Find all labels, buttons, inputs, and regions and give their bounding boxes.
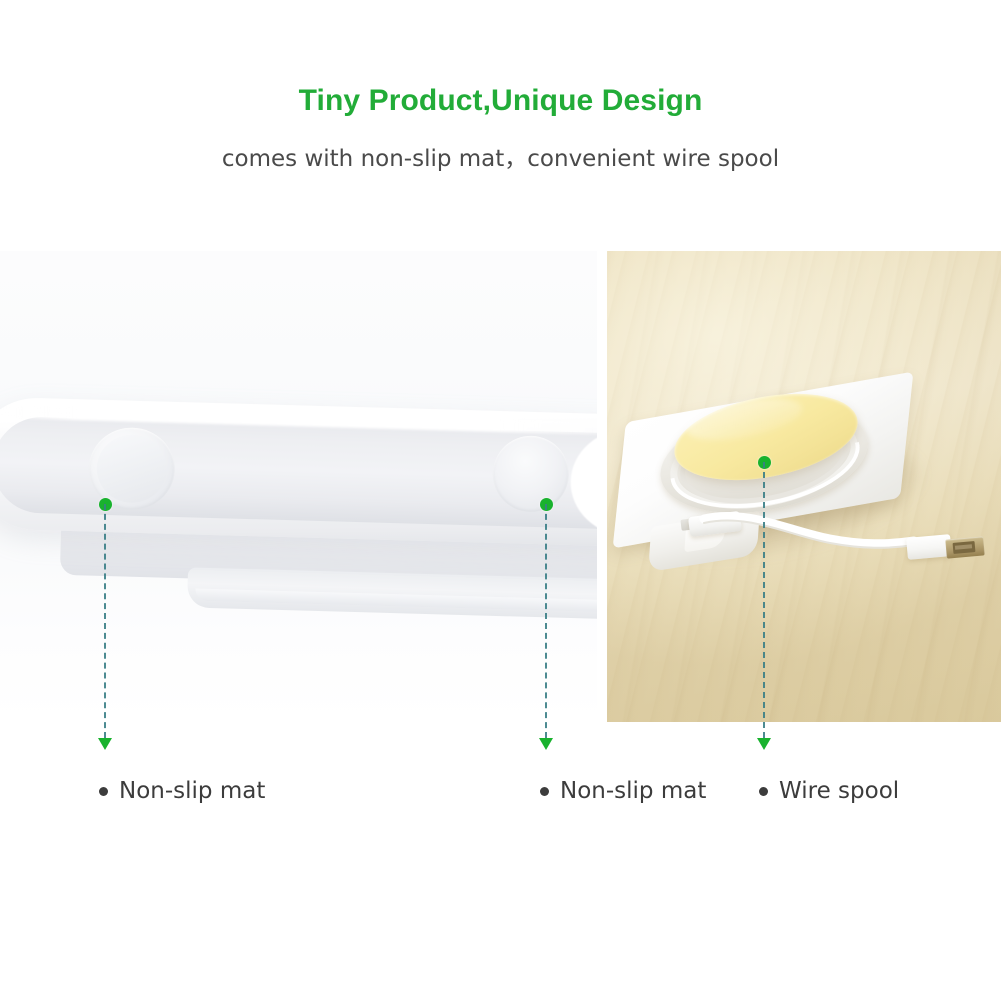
header-block: Tiny Product,Unique Design comes with no… [0, 0, 1001, 250]
page-title: Tiny Product,Unique Design [0, 84, 1001, 118]
callout-arrow-icon [98, 738, 112, 750]
bullet-icon [99, 787, 108, 796]
label-non-slip-mat-left: Non-slip mat [99, 778, 265, 804]
product-macro-photo [0, 251, 597, 722]
callout-arrow-icon [539, 738, 553, 750]
non-slip-pad-left-inner [96, 434, 168, 504]
charger-bar-illustration [0, 396, 597, 605]
callout-dashed-line [545, 504, 547, 738]
label-text: Non-slip mat [560, 778, 706, 804]
callout-arrow-icon [757, 738, 771, 750]
label-wire-spool: Wire spool [759, 778, 899, 804]
label-text: Wire spool [779, 778, 899, 804]
usb-cable [702, 501, 932, 553]
callout-dashed-line [104, 504, 106, 738]
bullet-icon [759, 787, 768, 796]
callout-dashed-line [763, 462, 765, 738]
page-subtitle: comes with non-slip mat，convenient wire … [0, 139, 1001, 173]
product-lifestyle-photo [607, 251, 1001, 722]
label-non-slip-mat-right: Non-slip mat [540, 778, 706, 804]
bullet-icon [540, 787, 549, 796]
label-text: Non-slip mat [119, 778, 265, 804]
